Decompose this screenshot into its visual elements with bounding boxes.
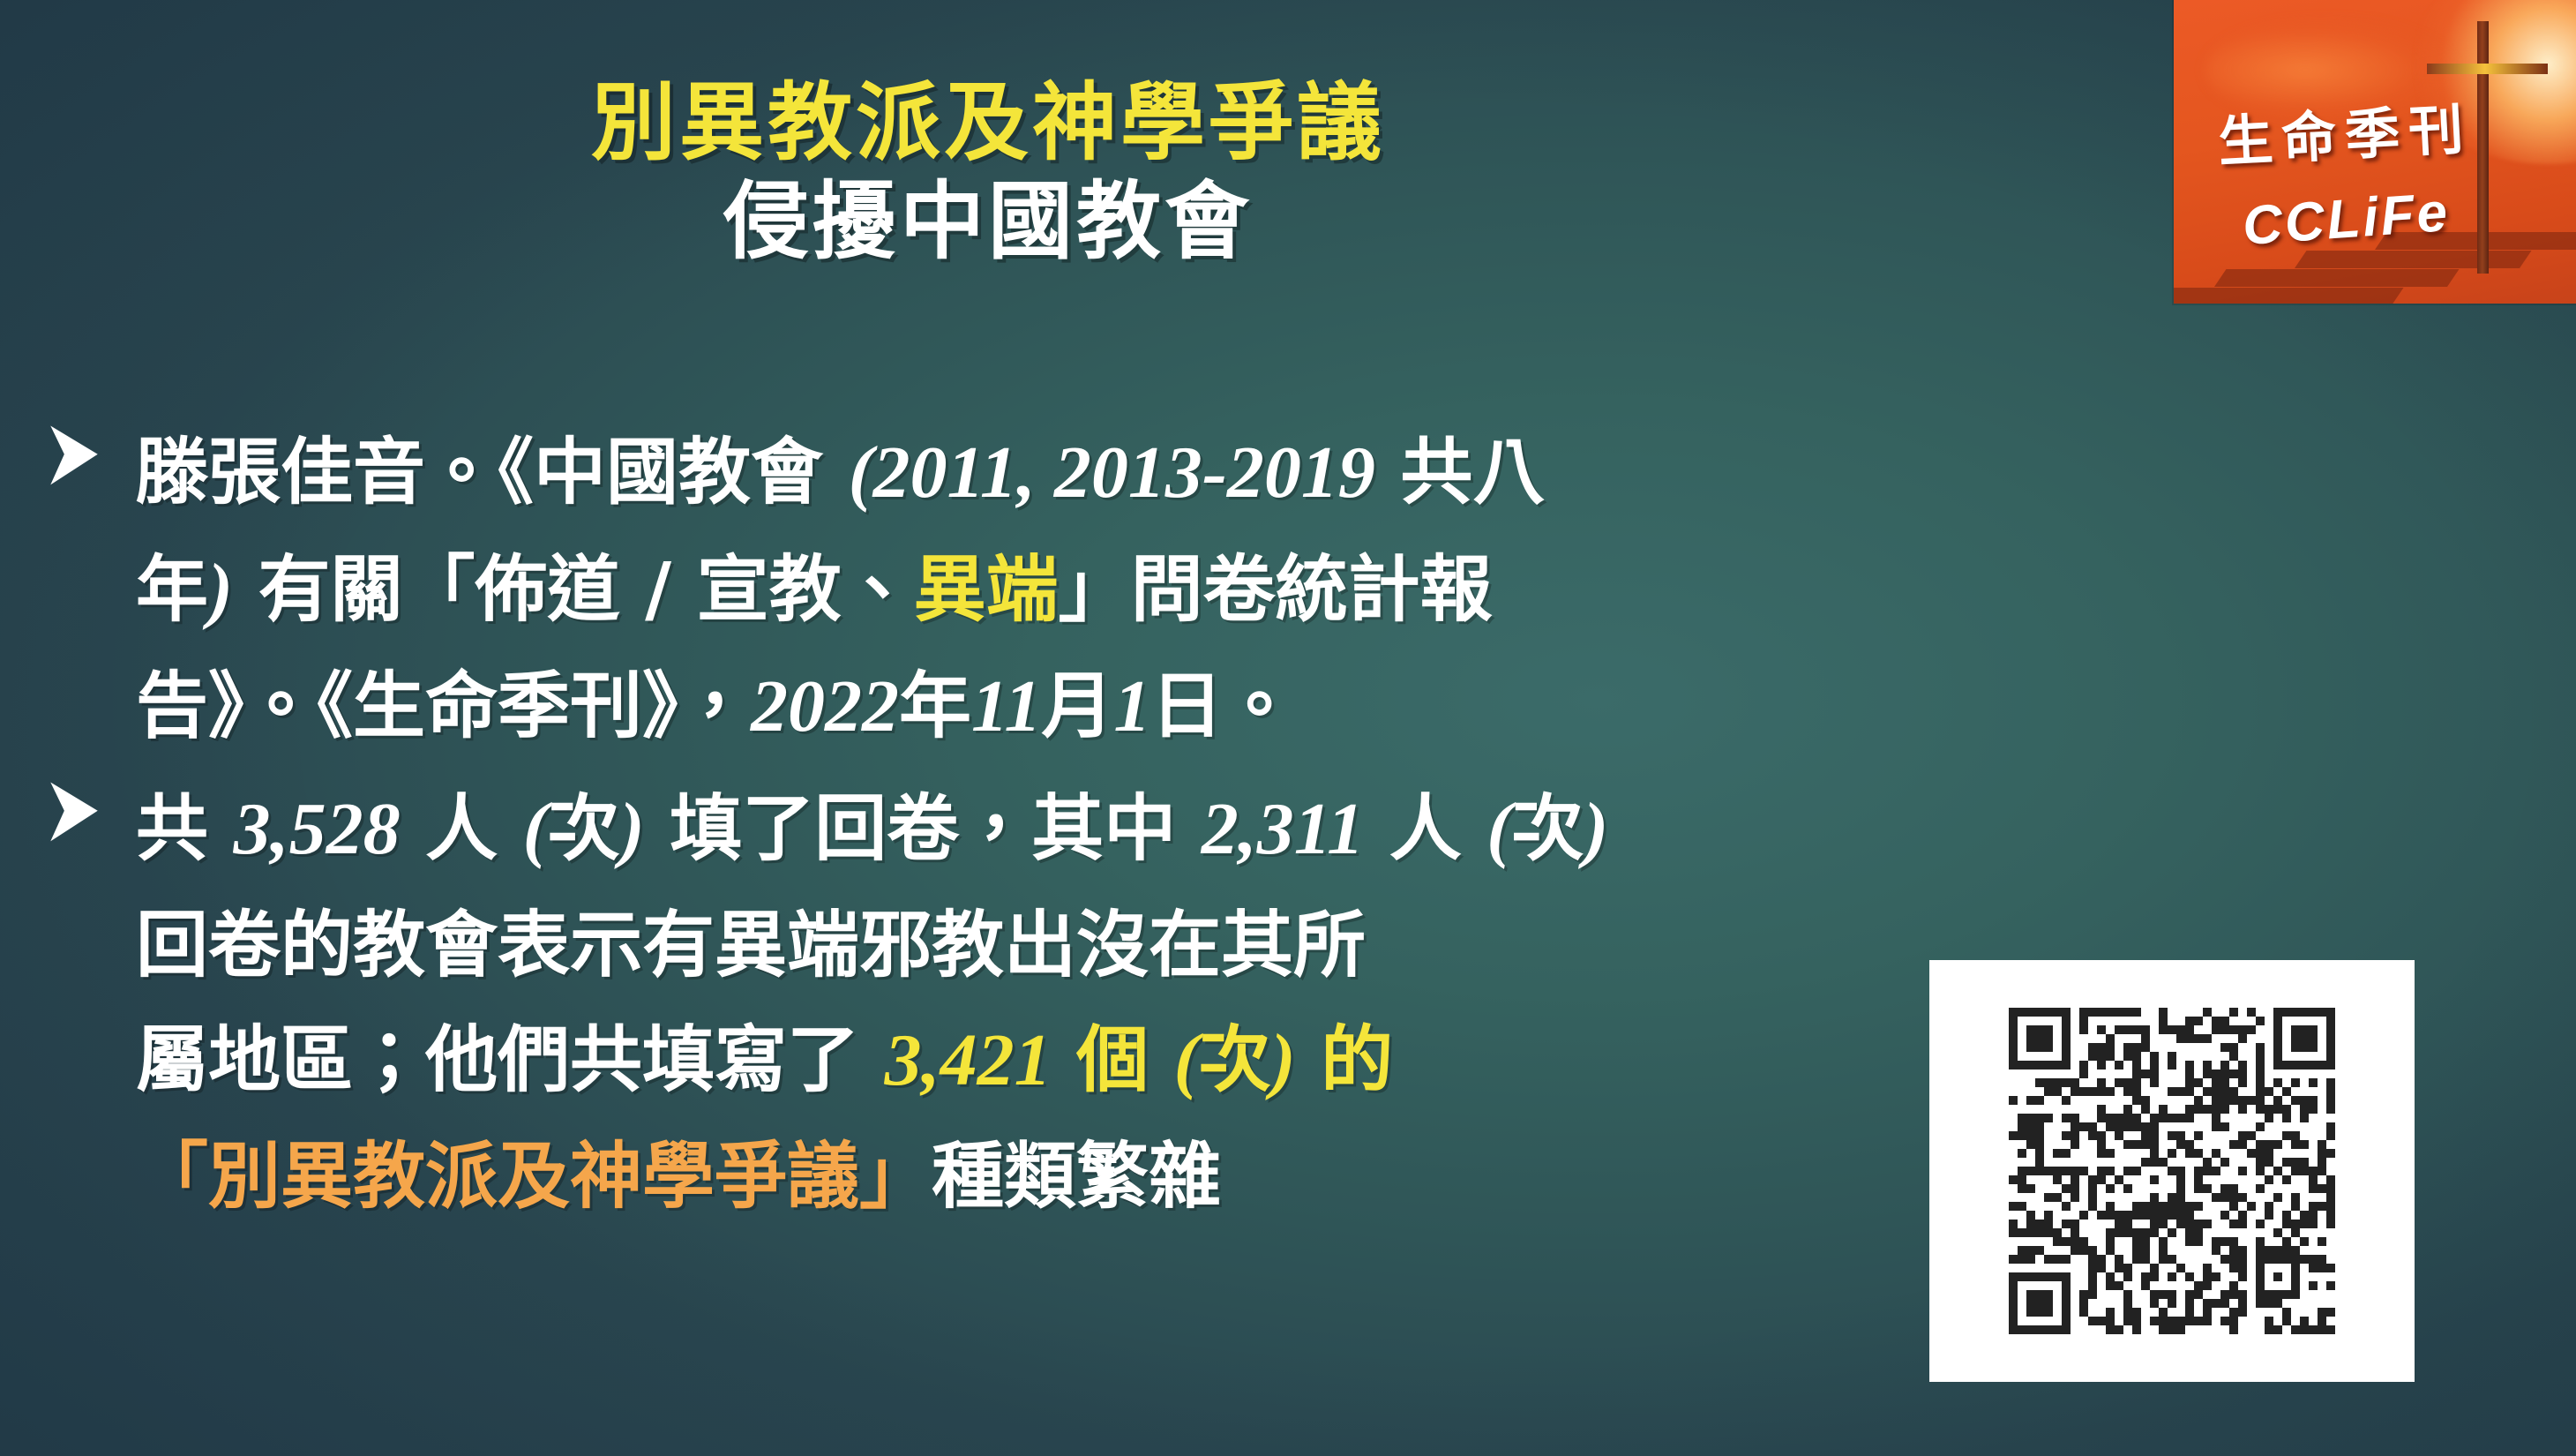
text-run: 回卷的教會表示有異端邪教出沒在其所 xyxy=(136,904,1366,987)
cclife-logo: 生命季刊 CCLiFe xyxy=(2174,0,2576,304)
text-run: 次 xyxy=(1199,1018,1271,1102)
bullet-arrow-icon xyxy=(44,422,113,498)
bullet-arrow-icon xyxy=(44,778,113,854)
bullet-line: 年) 有關「佈道 / 宣教、異端」問卷統計報 xyxy=(136,532,2086,649)
qr-code-icon[interactable] xyxy=(2009,1008,2335,1334)
text-run: 的 xyxy=(1296,1018,1394,1102)
cross-icon-bar xyxy=(2427,64,2548,74)
text-run: (2011, 2013-2019 xyxy=(849,432,1375,514)
text-run: ( xyxy=(523,788,548,870)
text-run: 3,528 xyxy=(234,788,401,870)
bullet-item: 滕張佳音。《中國教會 (2011, 2013-2019 共八年) 有關「佈道 /… xyxy=(39,415,2086,766)
text-run: 年 xyxy=(136,548,208,632)
text-run: 滕張佳音。《中國教會 xyxy=(136,431,849,514)
text-run: 「別異教派及神學爭議」 xyxy=(136,1135,932,1219)
text-run: ) xyxy=(620,788,645,870)
text-run: 屬地區；他們共填寫了 xyxy=(136,1018,885,1102)
text-run: 告》。《生命季刊》， xyxy=(136,664,751,748)
logo-title-cn: 生命季刊 xyxy=(2216,85,2474,177)
text-run: ( xyxy=(1486,788,1511,870)
bullet-line: 共 3,528 人 (次) 填了回卷，其中 2,311 人 (次) xyxy=(136,771,2086,889)
bullet-line: 屬地區；他們共填寫了 3,421 個 (次) 的 xyxy=(136,1002,2086,1120)
text-run: ) xyxy=(208,549,233,631)
text-run: 共 xyxy=(136,787,234,871)
logo-stair-step xyxy=(2174,288,2403,304)
text-run: ) xyxy=(1584,788,1608,870)
text-run: 異端 xyxy=(914,548,1059,632)
text-run: 人 xyxy=(401,787,523,871)
title-line-2: 侵擾中國教會 xyxy=(0,176,1976,268)
logo-stair-step xyxy=(2295,251,2532,268)
text-run: 有關「佈道 / 宣教、 xyxy=(233,548,914,632)
presentation-slide: 別異教派及神學爭議 侵擾中國教會 滕張佳音。《中國教會 (2011, 2013-… xyxy=(0,0,2576,1456)
text-run: 2022 xyxy=(751,665,899,747)
bullet-line: 告》。《生命季刊》，2022年11月1日。 xyxy=(136,649,2086,766)
text-run: 」問卷統計報 xyxy=(1059,548,1493,632)
text-run: 2,311 xyxy=(1202,788,1364,870)
text-run: ( xyxy=(1174,1019,1199,1101)
text-run: 3,421 xyxy=(885,1019,1052,1101)
bullet-item: 共 3,528 人 (次) 填了回卷，其中 2,311 人 (次)回卷的教會表示… xyxy=(39,771,2086,1235)
text-run: 次 xyxy=(548,787,620,871)
text-run: 1 xyxy=(1113,665,1150,747)
text-run: 人 xyxy=(1364,787,1486,871)
qr-code-card[interactable] xyxy=(1929,960,2415,1382)
bullet-line: 滕張佳音。《中國教會 (2011, 2013-2019 共八 xyxy=(136,415,2086,532)
bullet-line: 回卷的教會表示有異端邪教出沒在其所 xyxy=(136,889,2086,1003)
text-run: 個 xyxy=(1052,1018,1174,1102)
text-run: 次 xyxy=(1511,787,1584,871)
text-run: 填了回卷，其中 xyxy=(645,787,1202,871)
slide-body: 滕張佳音。《中國教會 (2011, 2013-2019 共八年) 有關「佈道 /… xyxy=(39,415,2086,1240)
text-run: 月 xyxy=(1041,664,1113,748)
slide-title: 別異教派及神學爭議 侵擾中國教會 xyxy=(0,78,1976,267)
bullet-line: 「別異教派及神學爭議」種類繁雜 xyxy=(136,1120,2086,1235)
title-line-1: 別異教派及神學爭議 xyxy=(0,78,1976,169)
text-run: 11 xyxy=(971,665,1041,747)
text-run: 日。 xyxy=(1150,664,1295,748)
logo-stair-step xyxy=(2214,269,2460,287)
text-run: 共八 xyxy=(1375,431,1546,514)
cross-icon xyxy=(2477,21,2489,274)
text-run: 年 xyxy=(899,664,971,748)
text-run: ) xyxy=(1271,1019,1296,1101)
text-run: 種類繁雜 xyxy=(932,1135,1221,1219)
